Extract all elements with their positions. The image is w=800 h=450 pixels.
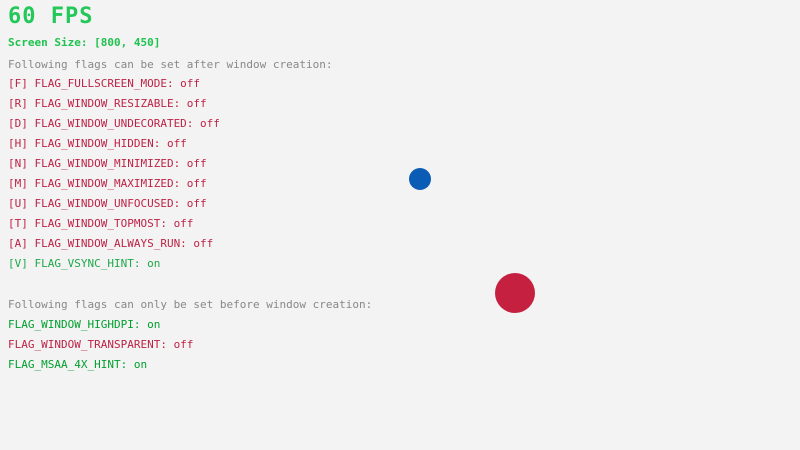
fps-counter: 60 FPS	[8, 6, 93, 28]
flag-row-window-maximized[interactable]: [M] FLAG_WINDOW_MAXIMIZED: off	[8, 178, 207, 189]
section-header-before-creation: Following flags can only be set before w…	[8, 299, 372, 310]
raylib-window: 60 FPS Screen Size: [800, 450] Following…	[0, 0, 800, 450]
red-circle	[495, 273, 535, 313]
flag-row-window-highdpi: FLAG_WINDOW_HIGHDPI: on	[8, 319, 160, 330]
flag-row-vsync-hint[interactable]: [V] FLAG_VSYNC_HINT: on	[8, 258, 160, 269]
flag-row-window-always-run[interactable]: [A] FLAG_WINDOW_ALWAYS_RUN: off	[8, 238, 213, 249]
flag-row-msaa-4x-hint: FLAG_MSAA_4X_HINT: on	[8, 359, 147, 370]
flag-row-window-hidden[interactable]: [H] FLAG_WINDOW_HIDDEN: off	[8, 138, 187, 149]
flag-row-fullscreen-mode[interactable]: [F] FLAG_FULLSCREEN_MODE: off	[8, 78, 200, 89]
flag-row-window-unfocused[interactable]: [U] FLAG_WINDOW_UNFOCUSED: off	[8, 198, 207, 209]
flag-row-window-undecorated[interactable]: [D] FLAG_WINDOW_UNDECORATED: off	[8, 118, 220, 129]
blue-circle	[409, 168, 431, 190]
section-header-after-creation: Following flags can be set after window …	[8, 59, 333, 70]
flag-row-window-minimized[interactable]: [N] FLAG_WINDOW_MINIMIZED: off	[8, 158, 207, 169]
flag-row-window-topmost[interactable]: [T] FLAG_WINDOW_TOPMOST: off	[8, 218, 193, 229]
flag-row-window-transparent: FLAG_WINDOW_TRANSPARENT: off	[8, 339, 193, 350]
flag-row-window-resizable[interactable]: [R] FLAG_WINDOW_RESIZABLE: off	[8, 98, 207, 109]
screen-size-label: Screen Size: [800, 450]	[8, 37, 160, 48]
